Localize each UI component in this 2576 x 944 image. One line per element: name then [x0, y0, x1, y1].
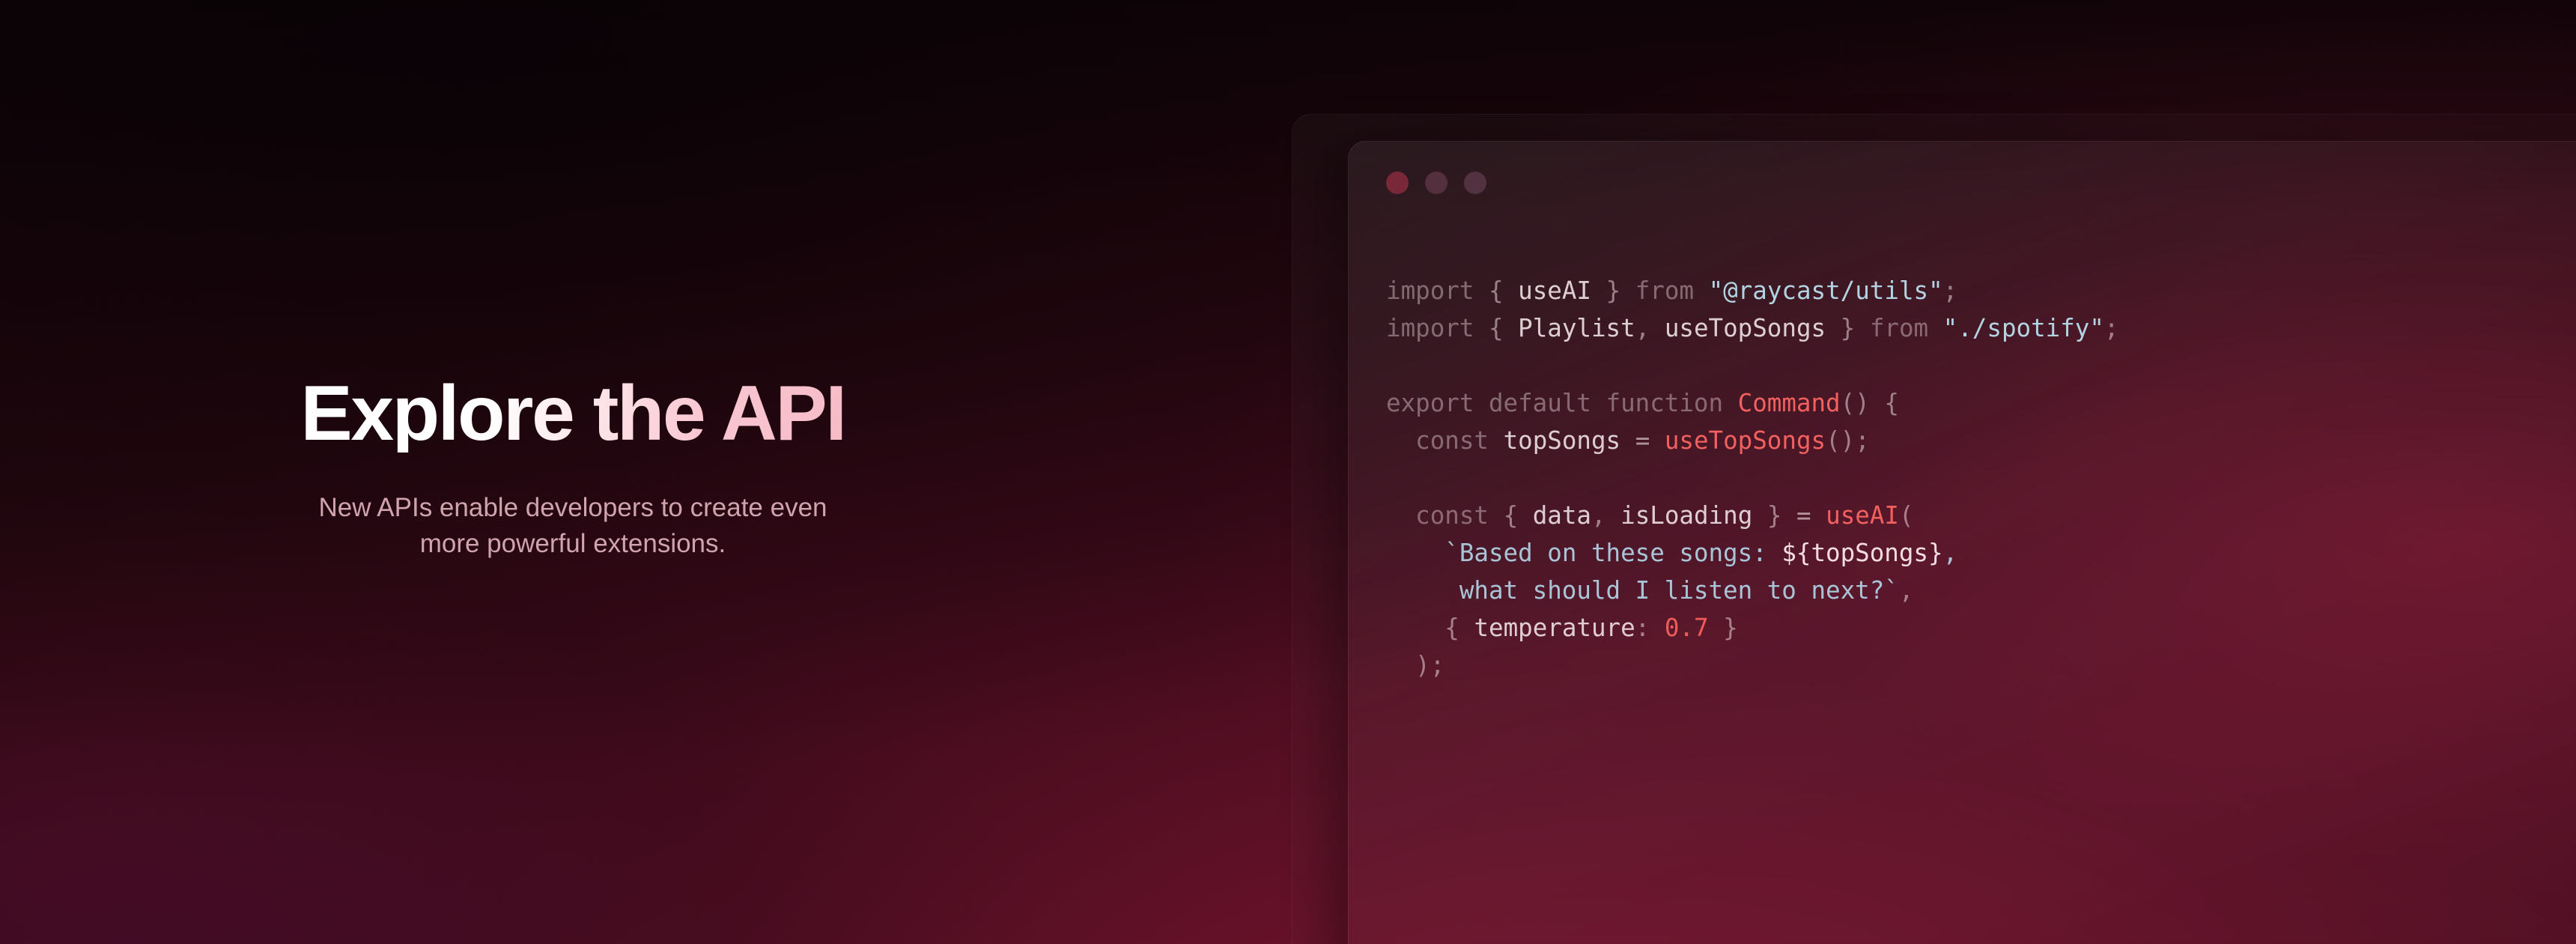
code-token: 0.7: [1665, 614, 1709, 642]
code-line: const { data, isLoading } = useAI(: [1386, 497, 2576, 534]
code-token: [1474, 389, 1489, 417]
hero-copy-block: Explore the API New APIs enable develope…: [0, 0, 1146, 944]
code-token: );: [1415, 651, 1445, 680]
code-token: ;: [2104, 314, 2119, 342]
code-line: [1386, 347, 2576, 384]
code-token: ${topSongs}: [1781, 539, 1942, 567]
code-token: [1928, 314, 1943, 342]
code-token: export: [1386, 389, 1474, 417]
code-token: data: [1533, 501, 1591, 530]
code-token: [1723, 389, 1738, 417]
code-token: () {: [1841, 389, 1899, 417]
code-line: import { useAI } from "@raycast/utils";: [1386, 272, 2576, 309]
code-token: [1620, 276, 1635, 305]
code-editor-window[interactable]: import { useAI } from "@raycast/utils";i…: [1348, 141, 2576, 944]
code-token: [1781, 501, 1796, 530]
code-token: [1474, 314, 1489, 342]
code-token: Playlist: [1518, 314, 1635, 342]
code-token: const: [1415, 501, 1489, 530]
code-token: [1386, 501, 1415, 530]
code-token: ;: [1943, 276, 1958, 305]
code-token: [1474, 276, 1489, 305]
code-token: from: [1870, 314, 1928, 342]
code-token: [1504, 276, 1519, 305]
code-token: [1386, 426, 1415, 455]
code-token: {: [1504, 501, 1519, 530]
code-token: ,: [1899, 576, 1914, 605]
code-token: {: [1445, 614, 1459, 642]
code-token: [1694, 276, 1709, 305]
code-token: }: [1767, 501, 1782, 530]
code-token: "./spotify": [1943, 314, 2104, 342]
code-token: default: [1489, 389, 1591, 417]
code-token: [1386, 651, 1415, 680]
code-token: [1826, 314, 1841, 342]
maximize-window-icon[interactable]: [1464, 172, 1486, 194]
window-titlebar: [1386, 172, 1486, 194]
code-token: [1650, 426, 1665, 455]
code-token: isLoading: [1620, 501, 1752, 530]
code-token: [1459, 614, 1474, 642]
page-title: Explore the API: [300, 375, 845, 453]
code-token: [1504, 314, 1519, 342]
code-line: what should I listen to next?`,: [1386, 572, 2576, 609]
code-token: Command: [1738, 389, 1841, 417]
code-token: [1811, 501, 1826, 530]
close-window-icon[interactable]: [1386, 172, 1409, 194]
code-token: [1650, 614, 1665, 642]
code-token: ,: [1943, 539, 1958, 567]
code-token: =: [1796, 501, 1811, 530]
code-token: import: [1386, 314, 1474, 342]
page-subtitle: New APIs enable developers to create eve…: [311, 490, 835, 561]
code-token: function: [1606, 389, 1724, 417]
code-line: );: [1386, 647, 2576, 684]
code-token: topSongs: [1504, 426, 1621, 455]
code-token: ,: [1591, 501, 1606, 530]
code-token: [1752, 501, 1767, 530]
code-token: [1650, 314, 1665, 342]
code-block[interactable]: import { useAI } from "@raycast/utils";i…: [1386, 272, 2576, 684]
code-token: from: [1635, 276, 1694, 305]
code-token: [1855, 314, 1870, 342]
code-token: [1386, 614, 1445, 642]
code-token: }: [1606, 276, 1621, 305]
code-token: [1386, 539, 1445, 567]
code-token: useAI: [1518, 276, 1591, 305]
code-line: import { Playlist, useTopSongs } from ".…: [1386, 309, 2576, 347]
code-line: export default function Command() {: [1386, 384, 2576, 422]
code-token: [1489, 426, 1504, 455]
code-token: const: [1415, 426, 1489, 455]
code-token: :: [1635, 614, 1650, 642]
code-line: const topSongs = useTopSongs();: [1386, 422, 2576, 459]
code-token: {: [1489, 276, 1504, 305]
hero-banner: Explore the API New APIs enable develope…: [0, 0, 2576, 944]
code-line: { temperature: 0.7 }: [1386, 609, 2576, 647]
code-token: ,: [1635, 314, 1650, 342]
code-token: (: [1899, 501, 1914, 530]
code-token: temperature: [1474, 614, 1635, 642]
code-token: useTopSongs: [1665, 314, 1826, 342]
code-token: [1709, 614, 1724, 642]
code-token: [1591, 389, 1606, 417]
code-token: [1620, 426, 1635, 455]
code-token: import: [1386, 276, 1474, 305]
code-token: [1386, 576, 1459, 605]
minimize-window-icon[interactable]: [1425, 172, 1448, 194]
code-token: ();: [1826, 426, 1870, 455]
code-token: {: [1489, 314, 1504, 342]
code-token: [1606, 501, 1621, 530]
code-token: "@raycast/utils": [1709, 276, 1943, 305]
code-token: }: [1841, 314, 1856, 342]
code-token: useAI: [1826, 501, 1899, 530]
code-token: `Based on these songs:: [1445, 539, 1781, 567]
code-token: [1489, 501, 1504, 530]
code-line: `Based on these songs: ${topSongs},: [1386, 534, 2576, 572]
code-token: useTopSongs: [1665, 426, 1826, 455]
code-token: what should I listen to next?`: [1459, 576, 1899, 605]
code-token: [1518, 501, 1533, 530]
code-token: [1591, 276, 1606, 305]
code-token: }: [1723, 614, 1738, 642]
code-token: =: [1635, 426, 1650, 455]
code-line: [1386, 459, 2576, 497]
